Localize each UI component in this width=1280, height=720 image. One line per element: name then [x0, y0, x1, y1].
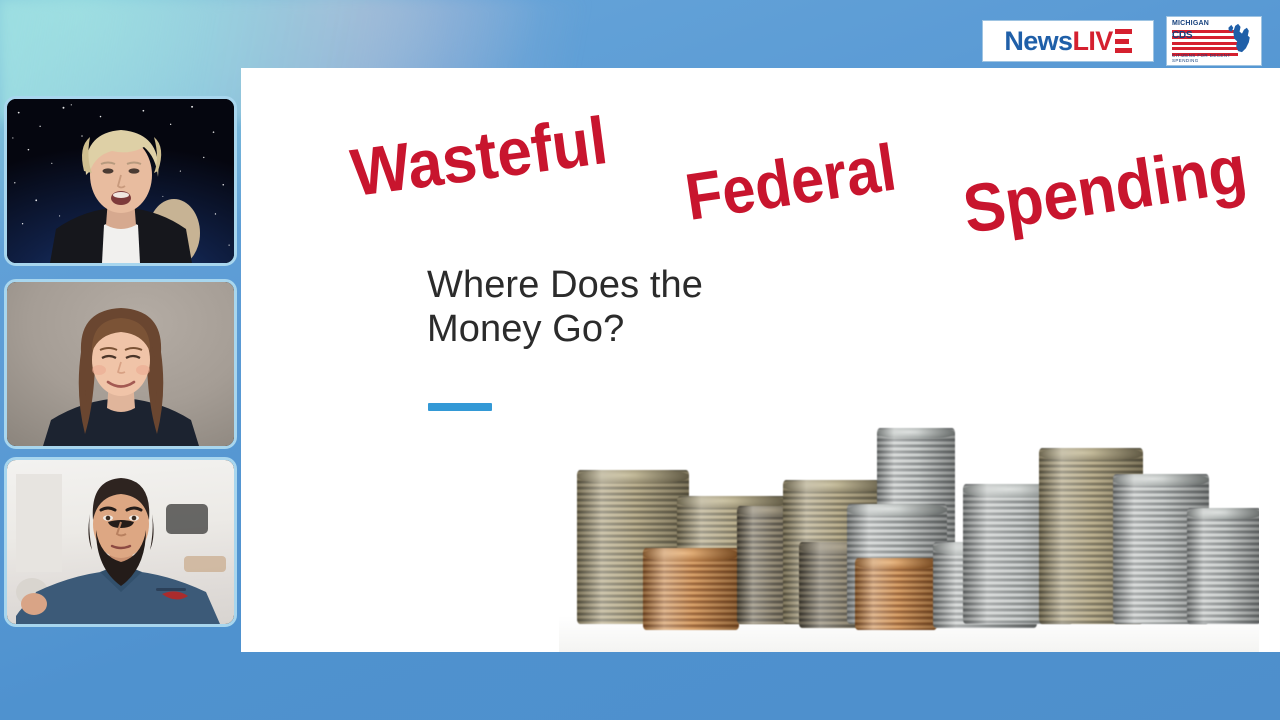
accent-underline-bar	[428, 403, 492, 411]
participant-video-tile-2[interactable]	[4, 279, 237, 449]
slide-subheading: Where Does the Money Go?	[427, 263, 703, 352]
coin-stacks-image	[559, 406, 1259, 652]
participant-2-video	[7, 282, 234, 446]
participant-1-video	[7, 99, 234, 263]
coin-stack	[855, 558, 937, 630]
newslive-live-text: LIV	[1072, 28, 1112, 55]
participant-2-avatar	[21, 296, 221, 446]
participant-video-tile-1[interactable]	[4, 96, 237, 266]
subheading-line-2: Money Go?	[427, 307, 703, 351]
logo-bar: NewsLIV MICHIGAN CDS CITIZENS FOR DECENT…	[982, 16, 1262, 66]
subheading-line-1: Where Does the	[427, 263, 703, 307]
presentation-slide: Wasteful Federal Spending Where Does the…	[241, 68, 1280, 652]
newslive-logo: NewsLIV	[982, 20, 1154, 62]
coin-stack	[1187, 508, 1259, 624]
participant-3-video	[7, 460, 234, 624]
coin-stack	[643, 548, 739, 630]
participant-1-avatar	[26, 113, 216, 263]
michigan-logo-subtitle: CDS	[1172, 31, 1192, 41]
participant-3-avatar	[16, 464, 226, 624]
michigan-logo-inner: MICHIGAN CDS CITIZENS FOR DECENT SPENDIN…	[1170, 20, 1258, 62]
newslive-e-glyph-icon	[1115, 29, 1132, 53]
headline-word-wasteful: Wasteful	[347, 107, 611, 207]
participant-video-tile-3[interactable]	[4, 457, 237, 627]
michigan-state-shape-icon	[1227, 21, 1257, 55]
headline-word-spending: Spending	[959, 135, 1251, 244]
michigan-logo-title: MICHIGAN	[1172, 20, 1209, 27]
michigan-organization-logo: MICHIGAN CDS CITIZENS FOR DECENT SPENDIN…	[1166, 16, 1262, 66]
newslive-wordmark: NewsLIV	[1004, 28, 1131, 55]
broadcast-stage: NewsLIV MICHIGAN CDS CITIZENS FOR DECENT…	[0, 0, 1280, 720]
newslive-news-text: News	[1004, 28, 1072, 55]
headline-word-federal: Federal	[681, 133, 900, 230]
